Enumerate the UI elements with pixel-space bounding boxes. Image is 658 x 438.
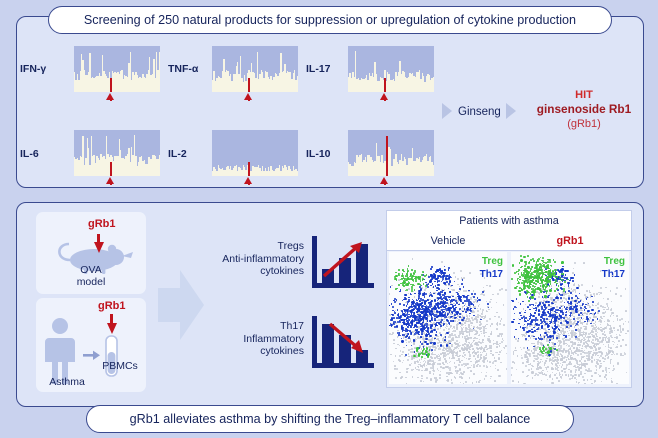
scatter-dot-background: [395, 348, 397, 350]
scatter-dot-background: [492, 362, 494, 364]
scatter-dot-background: [584, 360, 586, 362]
scatter-dot-th17: [453, 299, 455, 301]
ova-arrow-head-icon: [94, 242, 104, 253]
scatter-dot-treg: [519, 279, 521, 281]
scatter-dot-background: [473, 366, 475, 368]
scatter-dot-background: [597, 355, 599, 357]
scatter-dot-background: [408, 353, 410, 355]
scatter-dot-th17: [450, 300, 452, 302]
scatter-dot-background: [483, 318, 485, 320]
scatter-dot-th17: [541, 338, 543, 340]
scatter-dot-background: [613, 315, 615, 317]
scatter-dot-th17: [520, 303, 522, 305]
scatter-dot-background: [574, 262, 576, 264]
scatter-dot-background: [605, 355, 607, 357]
scatter-dot-background: [483, 348, 485, 350]
scatter-dot-background: [488, 336, 490, 338]
th17-bar-chart-icon: [312, 316, 374, 372]
scatter-dot-background: [454, 376, 456, 378]
scatter-dot-th17: [445, 336, 447, 338]
scatter-dot-background: [407, 359, 409, 361]
scatter-dot-background: [617, 344, 619, 346]
scatter-dot-th17: [411, 315, 413, 317]
scatter-dot-background: [586, 323, 588, 325]
scatter-dot-background: [540, 359, 542, 361]
scatter-dot-background: [408, 288, 410, 290]
scatter-dot-background: [490, 299, 492, 301]
scatter-dot-background: [514, 362, 516, 364]
scatter-dot-th17: [543, 304, 545, 306]
scatter-dot-th17: [430, 327, 432, 329]
scatter-dot-background: [497, 324, 499, 326]
scatter-dot-treg: [537, 264, 539, 266]
scatter-dot-background: [582, 357, 584, 359]
scatter-dot-background: [534, 350, 536, 352]
scatter-dot-th17: [445, 297, 447, 299]
scatter-dot-background: [433, 369, 435, 371]
scatter-dot-background: [416, 339, 418, 341]
scatter-dot-treg: [402, 270, 404, 272]
scatter-dot-background: [501, 341, 503, 343]
scatter-dot-background: [503, 324, 505, 326]
scatter-dot-background: [539, 329, 541, 331]
scatter-dot-background: [616, 315, 618, 317]
scatter-dot-th17: [406, 331, 408, 333]
scatter-dot-th17: [399, 303, 401, 305]
scatter-dot-background: [606, 378, 608, 380]
scatter-dot-background: [603, 344, 605, 346]
scatter-dot-background: [446, 376, 448, 378]
scatter-dot-background: [443, 356, 445, 358]
scatter-dot-th17: [389, 305, 390, 307]
scatter-dot-background: [488, 309, 490, 311]
scatter-dot-treg: [545, 283, 547, 285]
scatter-dot-th17: [562, 266, 564, 268]
scatter-dot-background: [467, 321, 469, 323]
scatter-dot-background: [576, 379, 578, 381]
scatter-dot-th17: [398, 334, 400, 336]
scatter-dot-background: [572, 323, 574, 325]
scatter-dot-background: [466, 363, 468, 365]
scatter-dot-th17: [572, 280, 574, 282]
scatter-dot-background: [469, 295, 471, 297]
scatter-dot-th17: [408, 319, 410, 321]
scatter-dot-th17: [433, 286, 435, 288]
scatter-dot-th17: [538, 324, 540, 326]
scatter-dot-background: [467, 348, 469, 350]
scatter-dot-th17: [454, 314, 456, 316]
scatter-dot-background: [421, 358, 423, 360]
scatter-dot-background: [417, 377, 419, 379]
scatter-plot-grb1: Treg Th17: [511, 252, 629, 384]
scatter-dot-background: [616, 287, 618, 289]
scatter-dot-background: [588, 360, 590, 362]
scatter-dot-background: [605, 311, 607, 313]
scatter-dot-background: [579, 329, 581, 331]
scatter-dot-background: [471, 325, 473, 327]
scatter-dot-th17: [434, 281, 436, 283]
scatter-dot-th17: [538, 304, 540, 306]
scatter-dot-background: [476, 319, 478, 321]
scatter-dot-background: [596, 334, 598, 336]
scatter-dot-th17: [564, 306, 566, 308]
scatter-dot-background: [439, 374, 441, 376]
scatter-dot-background: [554, 374, 556, 376]
scatter-dot-th17: [468, 290, 470, 292]
scatter-dot-background: [506, 353, 507, 355]
scatter-dot-background: [525, 365, 527, 367]
scatter-dot-th17: [415, 319, 417, 321]
scatter-dot-background: [597, 332, 599, 334]
scatter-dot-background: [590, 351, 592, 353]
scatter-dot-th17: [401, 340, 403, 342]
scatter-dot-background: [617, 362, 619, 364]
scatter-dot-background: [501, 335, 503, 337]
scatter-dot-background: [486, 372, 488, 374]
scatter-dot-background: [610, 360, 612, 362]
scatter-dot-background: [575, 371, 577, 373]
scatter-dot-background: [586, 348, 588, 350]
scatter-dot-background: [408, 293, 410, 295]
scatter-dot-th17: [469, 313, 471, 315]
scatter-dot-th17: [554, 319, 556, 321]
scatter-dot-th17: [518, 323, 520, 325]
scatter-dot-background: [551, 285, 553, 287]
scatter-dot-th17: [416, 302, 418, 304]
scatter-dot-treg: [412, 275, 414, 277]
scatter-dot-background: [611, 331, 613, 333]
scatter-dot-treg: [527, 255, 529, 257]
scatter-dot-treg: [398, 269, 400, 271]
scatter-dot-background: [544, 364, 546, 366]
scatter-dot-th17: [411, 294, 413, 296]
scatter-dot-background: [401, 354, 403, 356]
scatter-dot-background: [418, 369, 420, 371]
scatter-dot-background: [489, 346, 491, 348]
scatter-dot-background: [483, 365, 485, 367]
scatter-dot-th17: [436, 325, 438, 327]
scatter-dot-background: [463, 371, 465, 373]
scatter-dot-background: [473, 373, 475, 375]
scatter-dot-background: [559, 374, 561, 376]
scatter-dot-background: [456, 343, 458, 345]
scatter-dot-background: [523, 347, 525, 349]
scatter-dot-background: [567, 355, 569, 357]
scatter-dot-th17: [575, 305, 577, 307]
scatter-dot-th17: [529, 323, 531, 325]
trend-down-arrow-icon: [312, 316, 374, 372]
scatter-dot-treg: [520, 259, 523, 262]
scatter-dot-th17: [535, 310, 537, 312]
scatter-dot-background: [391, 285, 393, 287]
scatter-dot-th17: [405, 323, 407, 325]
scatter-dot-treg: [541, 276, 543, 278]
scatter-dot-treg: [518, 269, 520, 271]
scatter-dot-background: [576, 362, 578, 364]
scatter-dot-background: [486, 311, 488, 313]
scatter-dot-background: [564, 331, 566, 333]
scatter-dot-background: [532, 377, 534, 379]
scatter-dot-th17: [547, 311, 549, 313]
scatter-dot-treg: [519, 276, 521, 278]
scatter-dot-background: [594, 327, 596, 329]
scatter-dot-background: [568, 295, 570, 297]
scatter-dot-th17: [445, 316, 447, 318]
scatter-dot-background: [610, 362, 612, 364]
scatter-dot-th17: [512, 301, 514, 303]
scatter-dot-th17: [449, 276, 451, 278]
scatter-dot-background: [431, 357, 433, 359]
scatter-dot-th17: [523, 316, 525, 318]
scatter-dot-background: [620, 331, 622, 333]
scatter-dot-background: [411, 348, 413, 350]
scatter-dot-background: [531, 371, 533, 373]
scatter-dot-background: [469, 367, 471, 369]
scatter-dot-treg: [517, 271, 519, 273]
scatter-dot-background: [610, 290, 612, 292]
scatter-dot-background: [558, 340, 560, 342]
scatter-dot-background: [482, 339, 484, 341]
scatter-dot-th17: [588, 303, 590, 305]
scatter-dot-background: [490, 350, 492, 352]
scatter-dot-background: [521, 357, 523, 359]
scatter-dot-treg: [534, 294, 536, 296]
scatter-dot-background: [536, 331, 538, 333]
asthma-label: Asthma: [36, 376, 98, 388]
scatter-dot-th17: [527, 320, 529, 322]
scatter-dot-th17: [459, 296, 461, 298]
scatter-dot-th17: [431, 349, 433, 351]
scatter-dot-background: [523, 383, 525, 384]
scatter-dot-treg: [554, 261, 556, 263]
scatter-dot-th17: [474, 293, 476, 295]
scatter-dot-background: [496, 312, 498, 314]
scatter-dot-background: [612, 341, 614, 343]
scatter-dot-th17: [439, 293, 441, 295]
scatter-dot-background: [564, 371, 566, 373]
scatter-dot-th17: [397, 309, 399, 311]
scatter-dot-background: [499, 351, 501, 353]
scatter-dot-background: [557, 299, 559, 301]
scatter-dot-treg: [415, 278, 417, 280]
scatter-dot-background: [478, 335, 480, 337]
scatter-dot-background: [480, 331, 482, 333]
scatter-dot-th17: [444, 266, 446, 268]
scatter-dot-th17: [566, 321, 568, 323]
scatter-dot-background: [533, 360, 535, 362]
scatter-dot-background: [389, 293, 390, 295]
scatter-dot-background: [555, 368, 557, 370]
scatter-dot-background: [477, 355, 479, 357]
scatter-dot-background: [513, 351, 515, 353]
scatter-dot-background: [448, 303, 450, 305]
scatter-dot-th17: [418, 305, 420, 307]
scatter-dot-th17: [575, 308, 577, 310]
scatter-dot-th17: [551, 321, 553, 323]
scatter-dot-background: [455, 377, 457, 379]
scatter-dot-background: [613, 321, 615, 323]
scatter-dot-th17: [474, 308, 476, 310]
scatter-dot-background: [604, 321, 606, 323]
scatter-dot-background: [482, 341, 484, 343]
scatter-dot-background: [481, 372, 483, 374]
scatter-dot-background: [595, 321, 597, 323]
ova-model-caption: OVA model: [36, 264, 146, 288]
scatter-dot-th17: [427, 286, 429, 288]
scatter-dot-background: [434, 349, 436, 351]
scatter-dot-treg: [546, 276, 549, 279]
scatter-dot-background: [461, 360, 463, 362]
scatter-dot-background: [584, 328, 586, 330]
scatter-dot-background: [600, 270, 602, 272]
scatter-dot-th17: [396, 317, 398, 319]
scatter-dot-background: [432, 363, 434, 365]
scatter-dot-background: [602, 312, 604, 314]
scatter-dot-background: [449, 369, 451, 371]
scatter-dot-th17: [531, 329, 533, 331]
scatter-dot-background: [592, 305, 594, 307]
hit-marker-arrow-icon-6: [380, 177, 388, 184]
scatter-dot-th17: [535, 338, 537, 340]
scatter-dot-treg: [535, 283, 537, 285]
scatter-dot-background: [551, 369, 553, 371]
scatter-dot-background: [570, 348, 572, 350]
scatter-dot-treg: [511, 278, 513, 280]
scatter-dot-th17: [436, 290, 438, 292]
scatter-dot-background: [428, 363, 430, 365]
scatter-dot-th17: [420, 298, 422, 300]
scatter-dot-background: [439, 363, 441, 365]
scatter-dot-background: [608, 368, 610, 370]
scatter-dot-background: [552, 363, 554, 365]
scatter-dot-background: [424, 289, 426, 291]
scatter-dot-background: [476, 321, 478, 323]
scatter-dot-treg: [545, 286, 547, 288]
scatter-dot-th17: [396, 325, 398, 327]
scatter-dot-background: [618, 340, 620, 342]
scatter-dot-th17: [547, 324, 549, 326]
scatter-dot-background: [468, 347, 470, 349]
scatter-dot-background: [567, 293, 569, 295]
scatter-dot-background: [425, 368, 427, 370]
scatter-dot-background: [496, 328, 498, 330]
scatter-dot-background: [429, 372, 431, 374]
scatter-dot-background: [433, 367, 435, 369]
scatter-dot-background: [465, 364, 467, 366]
scatter-dot-background: [499, 345, 501, 347]
scatter-dot-background: [404, 356, 406, 358]
trend-up-arrow-icon: [312, 236, 374, 292]
scatter-dot-background: [473, 338, 475, 340]
scatter-dot-background: [449, 362, 451, 364]
scatter-dot-background: [627, 330, 629, 332]
scatter-dot-th17: [547, 301, 549, 303]
scatter-dot-th17: [462, 302, 464, 304]
scatter-dot-th17: [546, 318, 548, 320]
scatter-dot-background: [595, 348, 597, 350]
scatter-dot-background: [423, 381, 425, 383]
scatter-dot-treg: [394, 276, 396, 278]
scatter-dot-background: [625, 321, 627, 323]
scatter-dot-background: [479, 321, 481, 323]
figure-canvas: Screening of 250 natural products for su…: [0, 0, 658, 438]
scatter-dot-background: [620, 355, 622, 357]
scatter-dot-background: [603, 361, 605, 363]
scatter-dot-treg: [514, 272, 516, 274]
scatter-dot-background: [440, 371, 442, 373]
scatter-dot-background: [418, 366, 420, 368]
scatter-dot-background: [566, 359, 568, 361]
scatter-dot-th17: [450, 308, 452, 310]
scatter-dot-background: [497, 322, 499, 324]
hit-compound-name: ginsenoside Rb1: [522, 102, 646, 117]
hit-spike-4: [110, 162, 112, 176]
scatter-dot-th17: [406, 305, 408, 307]
scatter-dot-background: [469, 377, 471, 379]
scatter-dot-background: [439, 348, 441, 350]
scatter-dot-background: [603, 309, 605, 311]
scatter-dot-background: [596, 369, 598, 371]
scatter-dot-th17: [454, 281, 456, 283]
scatter-dot-background: [617, 329, 619, 331]
scatter-dot-background: [600, 292, 602, 294]
scatter-dot-th17: [438, 280, 440, 282]
scatter-dot-background: [589, 292, 591, 294]
scatter-dot-th17: [459, 288, 461, 290]
scatter-dot-background: [425, 362, 427, 364]
scatter-dot-background: [600, 363, 602, 365]
treg-bar-chart-icon: [312, 236, 374, 292]
scatter-dot-background: [467, 337, 469, 339]
scatter-dot-th17: [525, 338, 527, 340]
scatter-dot-background: [454, 328, 456, 330]
scatter-dot-background: [574, 320, 576, 322]
scatter-dot-background: [617, 318, 619, 320]
column-header-vehicle: Vehicle: [387, 231, 510, 251]
scatter-dot-background: [575, 350, 577, 352]
scatter-dot-background: [450, 361, 452, 363]
scatter-dot-background: [568, 333, 570, 335]
scatter-dot-background: [459, 374, 461, 376]
scatter-dot-background: [568, 310, 570, 312]
scatter-dot-background: [485, 332, 487, 334]
scatter-dot-th17: [540, 319, 542, 321]
scatter-dot-background: [559, 365, 561, 367]
top-banner: Screening of 250 natural products for su…: [48, 6, 612, 34]
scatter-dot-background: [572, 272, 574, 274]
scatter-dot-background: [460, 270, 462, 272]
scatter-dot-background: [398, 336, 400, 338]
scatter-dot-background: [414, 361, 416, 363]
scatter-dot-background: [480, 327, 482, 329]
scatter-dot-background: [561, 366, 563, 368]
scatter-dot-background: [484, 316, 486, 318]
scatter-dot-th17: [438, 322, 440, 324]
scatter-dot-background: [497, 369, 499, 371]
scatter-dot-th17: [539, 338, 541, 340]
scatter-dot-background: [493, 340, 495, 342]
scatter-dot-background: [596, 293, 598, 295]
scatter-dot-background: [592, 285, 594, 287]
scatter-dot-th17: [452, 320, 454, 322]
scatter-dot-background: [529, 355, 531, 357]
scatter-dot-treg: [554, 275, 556, 277]
scatter-dot-background: [393, 343, 395, 345]
scatter-dot-th17: [478, 299, 480, 301]
scatter-dot-th17: [567, 301, 569, 303]
scatter-dot-background: [498, 357, 500, 359]
scatter-dot-th17: [448, 297, 450, 299]
